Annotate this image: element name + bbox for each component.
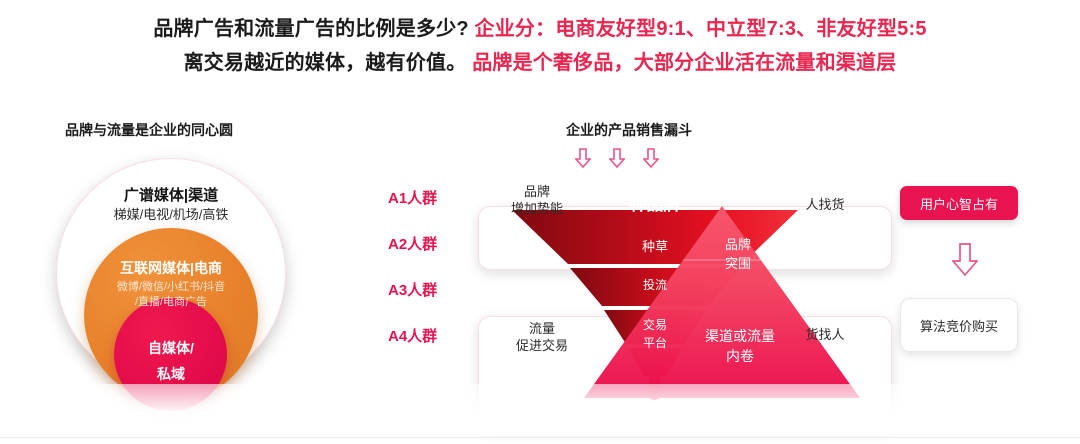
crowd-label-a2: A2人群: [388, 234, 474, 280]
circle-middle-subtitle-1: 微博/微信/小红书/抖音: [56, 278, 286, 294]
outcome-arrow-wrap: [900, 238, 1030, 282]
crowd-label-a4: A4人群: [388, 326, 474, 372]
funnel-right-label-top: 人找货: [770, 196, 880, 213]
headline-line-1: 品牌广告和流量广告的比例是多少? 企业分：电商友好型9:1、中立型7:3、非友好…: [0, 12, 1080, 46]
slide-canvas: 品牌广告和流量广告的比例是多少? 企业分：电商友好型9:1、中立型7:3、非友好…: [0, 0, 1080, 444]
funnel-left-label-top-line1: 品牌: [524, 184, 550, 199]
headline-line1-red: 企业分：电商友好型9:1、中立型7:3、非友好型5:5: [475, 18, 927, 40]
headline-line1-dark: 品牌广告和流量广告的比例是多少?: [153, 18, 468, 40]
bottom-divider: [0, 437, 1080, 438]
crowd-label-a3: A3人群: [388, 280, 474, 326]
circle-inner-label-1: 自媒体/: [56, 338, 286, 358]
circles-section-title: 品牌与流量是企业的同心圆: [65, 120, 233, 140]
sales-funnel-diagram: 品牌 增加势能 流量 促进交易 人找货 货找人 种品牌 种草 投流 交易 平台 …: [470, 148, 890, 398]
circle-middle-title: 互联网媒体|电商: [56, 258, 286, 278]
funnel-left-label-top-line2: 增加势能: [511, 201, 563, 216]
funnel-left-label-bottom: 流量 促进交易: [492, 320, 592, 354]
funnel-left-label-bottom-line2: 促进交易: [516, 338, 568, 353]
funnel-section-title: 企业的产品销售漏斗: [566, 120, 692, 140]
down-arrow-icon: [952, 243, 978, 277]
headline-line-2: 离交易越近的媒体，越有价值。 品牌是个奢侈品，大部分企业活在流量和渠道层: [0, 46, 1080, 80]
circle-outer-subtitle: 梯媒/电视/机场/高铁: [56, 204, 286, 223]
outcome-column: 用户心智占有 算法竞价购买: [900, 186, 1030, 352]
crowd-label-column: A1人群 A2人群 A3人群 A4人群: [388, 188, 474, 372]
circle-outer-title: 广谱媒体|渠道: [56, 184, 286, 205]
mindshare-pill[interactable]: 用户心智占有: [900, 186, 1018, 220]
headline-line2-dark: 离交易越近的媒体，越有价值。: [184, 52, 467, 74]
funnel-left-label-bottom-line1: 流量: [529, 321, 555, 336]
concentric-circles-diagram: 广谱媒体|渠道 梯媒/电视/机场/高铁 互联网媒体|电商 微博/微信/小红书/抖…: [56, 158, 286, 390]
funnel-right-label-bottom: 货找人: [770, 326, 880, 343]
circle-inner-label-2: 私域: [56, 364, 286, 384]
headline-block: 品牌广告和流量广告的比例是多少? 企业分：电商友好型9:1、中立型7:3、非友好…: [0, 12, 1080, 80]
crowd-label-a1: A1人群: [388, 188, 474, 234]
headline-line2-red: 品牌是个奢侈品，大部分企业活在流量和渠道层: [472, 52, 896, 74]
algorithm-bidding-box[interactable]: 算法竞价购买: [900, 298, 1018, 352]
circle-middle-subtitle-2: /直播/电商广告: [56, 293, 286, 309]
funnel-left-label-top: 品牌 增加势能: [492, 183, 582, 217]
